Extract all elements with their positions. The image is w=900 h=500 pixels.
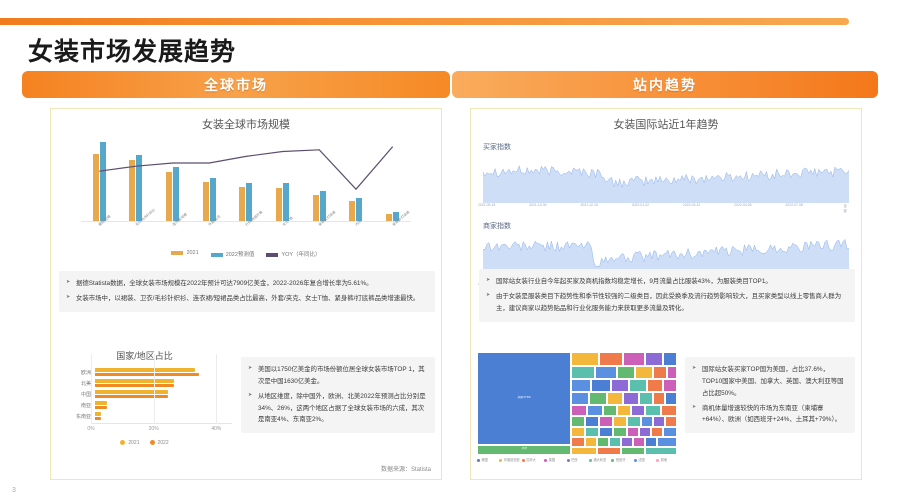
- x-axis-tick: 0%: [87, 426, 94, 432]
- bullet-item: 据德Statista数据，全球女装市场规模在2022年预计可达7909亿美金，2…: [66, 278, 427, 290]
- chart-buyer-index: 买家指数 2021-09-152021-10-302021-12-152022-…: [483, 142, 849, 211]
- treemap-block: [635, 366, 653, 378]
- y-axis-label: 中国: [57, 391, 95, 398]
- bar-row: 欧洲: [57, 368, 232, 377]
- treemap-block: [657, 437, 677, 446]
- treemap-block: [631, 405, 645, 416]
- page-title: 女装市场发展趋势: [28, 32, 236, 68]
- bar-row: 南亚: [57, 401, 232, 410]
- legend-label: 加拿大: [526, 458, 536, 462]
- treemap-block: [667, 366, 677, 378]
- bar-2022: [95, 373, 199, 377]
- bar-2022: [95, 417, 101, 421]
- treemap-block: [633, 437, 645, 446]
- bullet-item: 国际站女装买家TOP国为美国，占比37.6%，TOP10国家中美国、加拿大、英国…: [692, 364, 847, 400]
- legend-item: 印度尼西亚: [499, 457, 519, 462]
- legend-item-yoy: YOY（年同比）: [266, 250, 320, 258]
- x-axis-tick: 20%: [149, 426, 159, 432]
- treemap-block: [645, 447, 677, 455]
- y-axis-label: 南亚: [57, 402, 95, 409]
- bar-track: [95, 412, 232, 421]
- legend-label: 西班牙: [616, 458, 626, 462]
- bullet-item: 从地区维度，除中国外，欧洲、北美2022年预测占比分别是34%、26%，这两个地…: [248, 391, 427, 427]
- chart-label-buyer-index: 买家指数: [483, 142, 849, 152]
- grid-line: [91, 354, 92, 424]
- legend-dot: [522, 459, 525, 462]
- chart-label-merchant-index: 商家指数: [483, 221, 849, 231]
- treemap-block: [571, 352, 599, 366]
- treemap-block: [571, 366, 595, 378]
- bar-2021: [95, 401, 107, 405]
- legend-item-2022: 2022: [150, 440, 169, 446]
- bar-row: 中国: [57, 390, 232, 399]
- chart-legend-country-region-share: 2021 2022: [57, 440, 232, 446]
- treemap-block: [623, 392, 639, 404]
- chart-global-market-size: 裙装/短裙毛衫/毛衣针织衫连衣裙/短裙外套/夹克针织/西装外套女士T恤紧身裤/打…: [81, 140, 411, 248]
- bullet-item: 女装市场中，以裙装、卫衣/毛衫针织衫、连衣裙/短裙品类占比最高，外套/夹克、女士…: [66, 293, 427, 305]
- treemap-block: [641, 416, 653, 427]
- treemap-block: [645, 352, 663, 366]
- legend-label: 美国: [482, 458, 488, 462]
- page-number: 3: [12, 487, 16, 494]
- x-axis-date: 2022-01-22: [632, 203, 649, 207]
- callout-buyer-country-notes: 国际站女装买家TOP国为美国，占比37.6%，TOP10国家中美国、加拿大、英国…: [685, 357, 855, 433]
- treemap-block: [585, 437, 597, 446]
- bullet-item: 国际站女装行业自今年起买家及商机指数均稳定增长，9月流量占比服装43%，为服装类…: [486, 276, 847, 288]
- bar-2021: [95, 379, 174, 383]
- treemap-block: [571, 427, 585, 437]
- legend-dot: [544, 459, 547, 462]
- treemap-block: [585, 427, 599, 437]
- treemap-block: [613, 416, 627, 427]
- chart-x-axis: 0%20%40%: [91, 423, 232, 436]
- bar-track: [95, 401, 232, 410]
- legend-item-2022: 2022预测值: [211, 250, 255, 258]
- treemap-block: [571, 405, 587, 416]
- grid-line: [154, 354, 155, 424]
- legend-item: 澳大利亚: [589, 457, 606, 462]
- legend-label: 法国: [638, 458, 644, 462]
- grid-line: [216, 354, 217, 424]
- legend-dot-2021: [120, 440, 125, 445]
- treemap-block: [639, 427, 651, 437]
- treemap-blocks: 美国 37.6%其他: [477, 352, 677, 455]
- x-axis-date: 2022-04-26: [734, 203, 751, 207]
- legend-swatch-2021: [171, 251, 183, 255]
- treemap-block: [645, 405, 661, 416]
- treemap-block: [645, 437, 657, 446]
- bar-track: [95, 390, 232, 399]
- legend-label: 巴西: [571, 458, 577, 462]
- chart-buyer-index-area: [483, 153, 849, 203]
- treemap-block: [571, 437, 585, 446]
- treemap-block: [591, 379, 611, 392]
- treemap-block: [607, 392, 623, 404]
- section-banner-onsite: 站内趋势: [452, 71, 878, 98]
- callout-onsite-trend-notes: 国际站女装行业自今年起买家及商机指数均稳定增长，9月流量占比服装43%，为服装类…: [479, 269, 855, 322]
- treemap-block: [653, 416, 665, 427]
- chart-x-axis-dates-buyer: 2021-09-152021-10-302021-12-152022-01-22…: [483, 203, 849, 211]
- bar-row: 北美: [57, 379, 232, 388]
- bullet-item: 商机体量增速较快的市场为东南亚（柬埔寨+64%）、欧洲（如西班牙+24%、土耳其…: [692, 403, 847, 427]
- treemap-block: [665, 392, 677, 404]
- treemap-block: [599, 352, 623, 366]
- legend-item: 西班牙: [611, 457, 625, 462]
- treemap-block: [663, 379, 677, 392]
- legend-item: 加拿大: [522, 457, 536, 462]
- legend-dot: [611, 459, 614, 462]
- treemap-block: [587, 405, 603, 416]
- legend-item-2021: 2021: [120, 440, 139, 446]
- legend-swatch-2022: [211, 253, 223, 257]
- legend-label: 英国: [549, 458, 555, 462]
- x-axis-date: 2021-10-30: [529, 203, 546, 207]
- treemap-block: [621, 437, 633, 446]
- treemap-block: [571, 447, 597, 455]
- treemap-block: [647, 379, 663, 392]
- legend-label: 其他: [661, 458, 667, 462]
- x-axis-date: 全部: [843, 203, 847, 213]
- chart-title-alibaba-1y-trend: 女装国际站近1年趋势: [471, 116, 861, 132]
- x-axis-date: 2022-07-08: [785, 203, 802, 207]
- bullet-item: 美国以1750亿美金的市场份额位居全球女装市场TOP 1，其次是中国1630亿美…: [248, 364, 427, 388]
- legend-dot: [477, 459, 480, 462]
- legend-dot: [634, 459, 637, 462]
- treemap-block: [617, 405, 631, 416]
- treemap-block: [663, 352, 677, 366]
- treemap-block: [603, 405, 617, 416]
- treemap-block: [611, 379, 629, 392]
- bar-2021: [95, 368, 195, 372]
- legend-dot: [567, 459, 570, 462]
- x-axis-date: 2021-12-15: [580, 203, 597, 207]
- legend-item: 美国: [477, 457, 488, 462]
- callout-country-share-notes: 美国以1750亿美金的市场份额位居全球女装市场TOP 1，其次是中国1630亿美…: [241, 357, 435, 433]
- legend-dot: [499, 459, 502, 462]
- legend-dot: [589, 459, 592, 462]
- treemap-block: [571, 379, 591, 392]
- treemap-block: [629, 379, 647, 392]
- treemap-block: [665, 416, 677, 427]
- x-axis-date: 2022-03-12: [683, 203, 700, 207]
- treemap-block: [617, 366, 635, 378]
- chart-title-country-region-share: 国家/地区占比: [57, 349, 232, 362]
- treemap-block: 其他: [477, 445, 571, 455]
- treemap-block: 美国 37.6%: [477, 352, 571, 445]
- legend-item: 法国: [634, 457, 645, 462]
- treemap-legend: 美国印度尼西亚加拿大英国巴西澳大利亚西班牙法国其他: [477, 457, 677, 466]
- treemap-block: [597, 437, 609, 446]
- legend-swatch-yoy: [266, 253, 278, 257]
- bar-2021: [95, 390, 168, 394]
- bullet-item: 由于女装是服装类目下趋势性和季节性较强的二级类目，因此受换季及流行趋势影响较大，…: [486, 291, 847, 315]
- chart-country-region-share: 国家/地区占比 欧洲北美中国南亚东南亚 0%20%40% 2021 2022: [57, 349, 232, 446]
- treemap-block: [571, 416, 585, 427]
- bar-track: [95, 379, 232, 388]
- panel-onsite-trend: 女装国际站近1年趋势 买家指数 2021-09-152021-10-302021…: [470, 108, 862, 480]
- legend-dot-2022: [150, 440, 155, 445]
- chart-buyer-country-treemap: 美国 37.6%其他 美国印度尼西亚加拿大英国巴西澳大利亚西班牙法国其他: [477, 352, 677, 466]
- treemap-block: [663, 427, 677, 437]
- treemap-block: [585, 416, 599, 427]
- legend-item: 英国: [544, 457, 555, 462]
- treemap-block: [621, 447, 645, 455]
- bar-2022: [95, 384, 174, 388]
- section-banner-global: 全球市场: [22, 71, 450, 98]
- chart-title-global-market-size: 女装全球市场规模: [51, 116, 441, 132]
- panel-global-market: 女装全球市场规模 裙装/短裙毛衫/毛衣针织衫连衣裙/短裙外套/夹克针织/西装外套…: [50, 108, 442, 480]
- bar-row: 东南亚: [57, 412, 232, 421]
- legend-item: 巴西: [567, 457, 578, 462]
- legend-dot: [656, 459, 659, 462]
- treemap-block: [595, 366, 617, 378]
- bar-2022: [95, 406, 107, 410]
- callout-global-market-notes: 据德Statista数据，全球女装市场规模在2022年预计可达7909亿美金，2…: [59, 271, 435, 312]
- data-source-note: 数据来源：Statista: [381, 464, 431, 473]
- bar-track: [95, 368, 232, 377]
- treemap-block: [571, 392, 589, 404]
- chart-x-axis-labels: 裙装/短裙毛衫/毛衣针织衫连衣裙/短裙外套/夹克针织/西装外套女士T恤紧身裤/打…: [81, 222, 411, 248]
- treemap-block: [609, 437, 621, 446]
- legend-item: 其他: [656, 457, 667, 462]
- treemap-block: [613, 427, 627, 437]
- treemap-block: [661, 405, 677, 416]
- legend-item-2021: 2021: [171, 250, 198, 258]
- x-axis-date: 2021-09-15: [478, 203, 495, 207]
- y-axis-label: 欧洲: [57, 369, 95, 376]
- treemap-block: [597, 447, 621, 455]
- treemap-block: [623, 352, 645, 366]
- treemap-block: [627, 416, 641, 427]
- chart-horizontal-rows: 欧洲北美中国南亚东南亚: [57, 368, 232, 421]
- bar-2022: [95, 395, 168, 399]
- y-axis-label: 东南亚: [57, 413, 95, 420]
- treemap-block: [653, 392, 665, 404]
- y-axis-label: 北美: [57, 380, 95, 387]
- treemap-block: [599, 427, 613, 437]
- treemap-block: [651, 427, 663, 437]
- chart-legend-global-market-size: 2021 2022预测值 YOY（年同比）: [51, 250, 441, 258]
- bar-2021: [95, 412, 101, 416]
- slide-root: 女装市场发展趋势 全球市场 站内趋势 女装全球市场规模 裙装/短裙毛衫/毛衣针织…: [0, 0, 900, 500]
- treemap-block: [627, 427, 639, 437]
- x-axis-tick: 40%: [211, 426, 221, 432]
- chart-yoy-line: [81, 140, 411, 222]
- decorative-top-bar: [0, 18, 849, 25]
- treemap-block: [653, 366, 667, 378]
- treemap-block: [639, 392, 653, 404]
- treemap-block: [599, 416, 613, 427]
- legend-label: 印度尼西亚: [504, 458, 520, 462]
- legend-label: 澳大利亚: [594, 458, 607, 462]
- treemap-block: [589, 392, 607, 404]
